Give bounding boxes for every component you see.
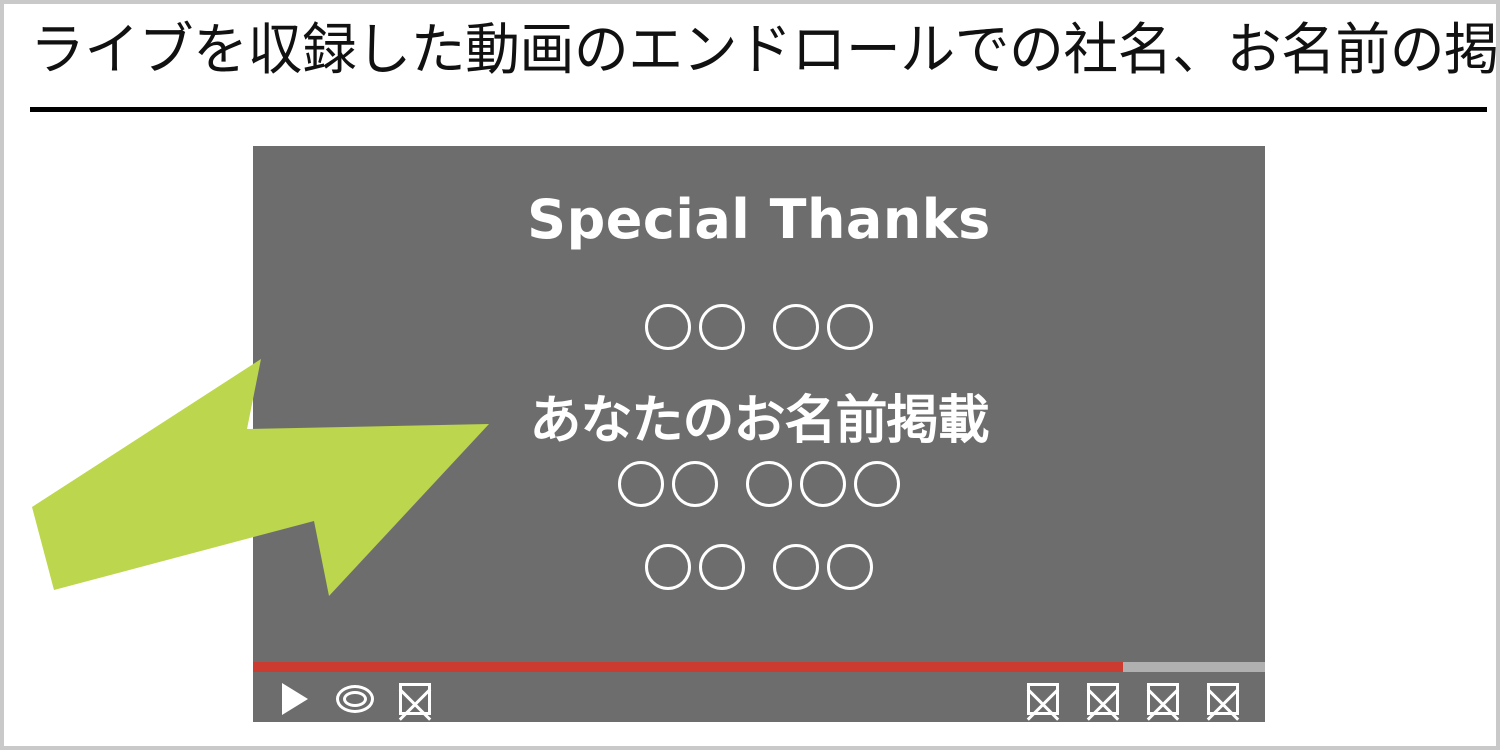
placeholder-box-icon — [1147, 683, 1179, 715]
credit-circle — [827, 544, 873, 590]
credits-stage: Special Thanks あなたのお名前掲載 — [253, 146, 1265, 652]
credits-title: Special Thanks — [253, 188, 1265, 251]
credits-circle-row — [253, 544, 1265, 590]
progress-bar-fill — [253, 662, 1123, 672]
credit-row-gap — [749, 567, 769, 568]
credit-circle — [699, 544, 745, 590]
placeholder-box-icon — [1207, 683, 1239, 715]
settings-button[interactable] — [1013, 682, 1073, 716]
credit-circle — [699, 304, 745, 350]
placeholder-box-icon — [399, 683, 431, 715]
placeholder-box-icon — [1027, 683, 1059, 715]
credit-circle — [645, 544, 691, 590]
volume-ring-icon — [336, 685, 374, 713]
video-player[interactable]: Special Thanks あなたのお名前掲載 — [253, 146, 1265, 722]
credit-row-gap — [749, 327, 769, 328]
credit-circle — [800, 461, 846, 507]
credit-circle — [773, 544, 819, 590]
player-control-bar[interactable] — [253, 652, 1265, 722]
volume-button[interactable] — [325, 682, 385, 716]
credits-circle-row — [253, 304, 1265, 350]
credit-circle — [827, 304, 873, 350]
volume-ring-inner-icon — [343, 691, 367, 707]
page-title: ライブを収録した動画のエンドロールでの社名、お名前の掲載 — [30, 20, 1459, 82]
credit-circle — [672, 461, 718, 507]
credit-circle — [746, 461, 792, 507]
progress-bar-track[interactable] — [253, 662, 1265, 672]
play-button[interactable] — [265, 682, 325, 716]
fullscreen-button[interactable] — [1193, 682, 1253, 716]
credits-highlight-name: あなたのお名前掲載 — [253, 378, 1265, 453]
slide-canvas: ライブを収録した動画のエンドロールでの社名、お名前の掲載 Special Tha… — [0, 0, 1500, 750]
play-icon — [282, 683, 308, 715]
time-placeholder[interactable] — [385, 682, 445, 716]
credit-circle — [618, 461, 664, 507]
theater-button[interactable] — [1133, 682, 1193, 716]
placeholder-box-icon — [1087, 683, 1119, 715]
credit-circle — [645, 304, 691, 350]
credit-circle — [773, 304, 819, 350]
credit-row-gap — [722, 484, 742, 485]
player-controls-right — [1013, 682, 1253, 716]
credits-circle-row — [253, 461, 1265, 507]
player-controls-left — [265, 682, 445, 716]
miniplayer-button[interactable] — [1073, 682, 1133, 716]
credit-circle — [854, 461, 900, 507]
page-title-block: ライブを収録した動画のエンドロールでの社名、お名前の掲載 — [30, 20, 1488, 82]
title-underline — [30, 107, 1487, 112]
